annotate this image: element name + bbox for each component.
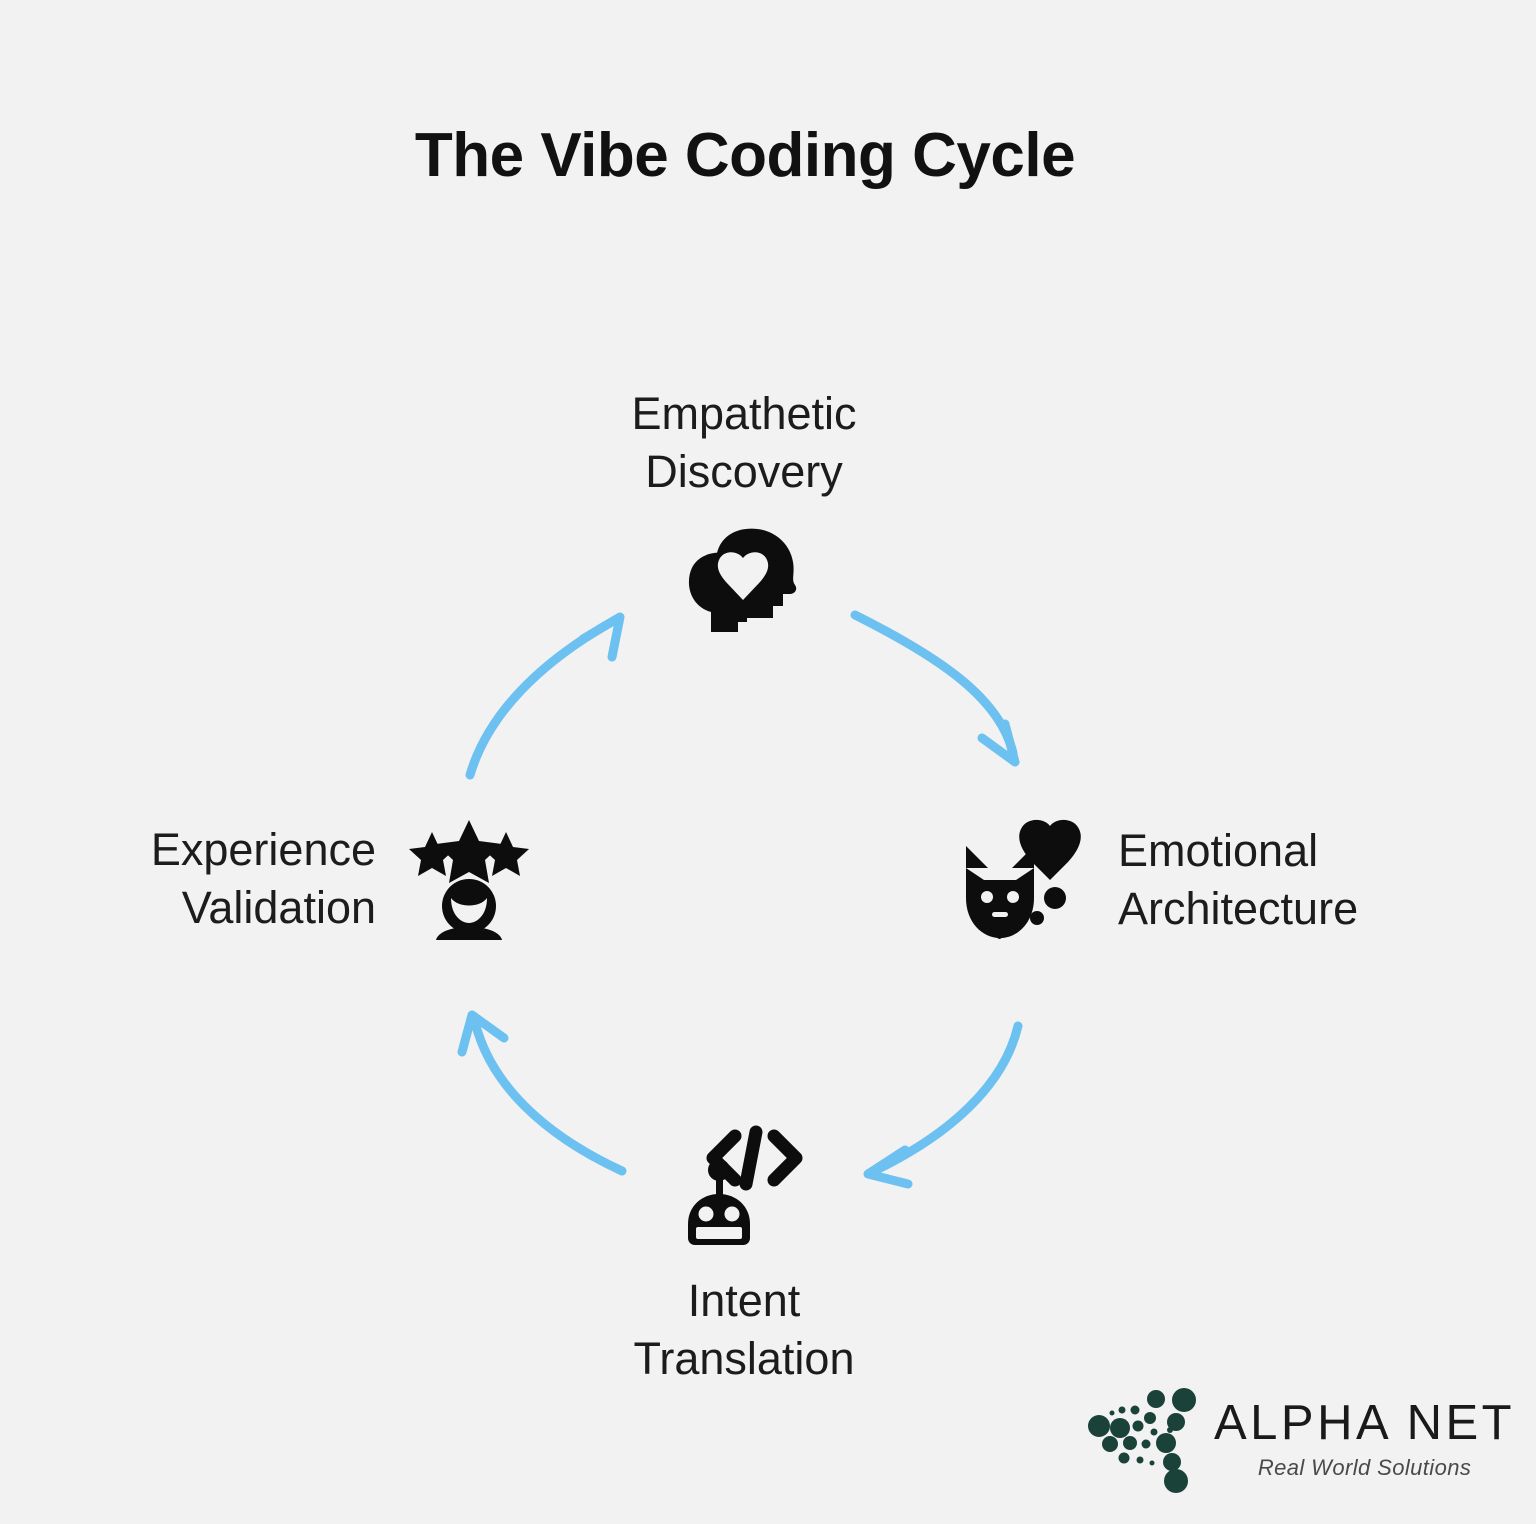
- heads-with-heart-icon: [685, 522, 803, 634]
- robot-code-icon: [680, 1118, 808, 1248]
- cycle-node-label: Emotional Architecture: [1118, 822, 1358, 937]
- cycle-node-empathetic-discovery[interactable]: Empathetic Discovery: [488, 385, 1000, 634]
- cycle-node-label: Empathetic Discovery: [631, 385, 856, 500]
- alpha-net-logo-tagline: Real World Solutions: [1258, 1455, 1471, 1481]
- connector-discovery-to-architecture: [855, 615, 1015, 762]
- cycle-node-emotional-architecture[interactable]: Emotional Architecture: [958, 818, 1478, 942]
- cycle-node-label: Experience Validation: [151, 821, 376, 936]
- alpha-net-logo: ALPHA NET Real World Solutions: [1088, 1386, 1515, 1494]
- cycle-node-experience-validation[interactable]: Experience Validation: [60, 818, 530, 940]
- connector-validation-to-discovery: [470, 617, 620, 775]
- cycle-node-intent-translation[interactable]: Intent Translation: [488, 1118, 1000, 1387]
- cat-thinking-heart-icon: [958, 818, 1084, 942]
- cycle-node-label: Intent Translation: [634, 1272, 855, 1387]
- five-star-rating-face-icon: [408, 818, 530, 940]
- cycle-diagram: Empathetic Discovery: [0, 0, 1536, 1524]
- diagram-canvas: The Vibe Coding Cycle: [0, 0, 1536, 1524]
- alpha-net-logo-name: ALPHA NET: [1214, 1399, 1515, 1448]
- alpha-net-logo-mark-icon: [1088, 1386, 1200, 1494]
- alpha-net-logo-text: ALPHA NET Real World Solutions: [1214, 1399, 1515, 1481]
